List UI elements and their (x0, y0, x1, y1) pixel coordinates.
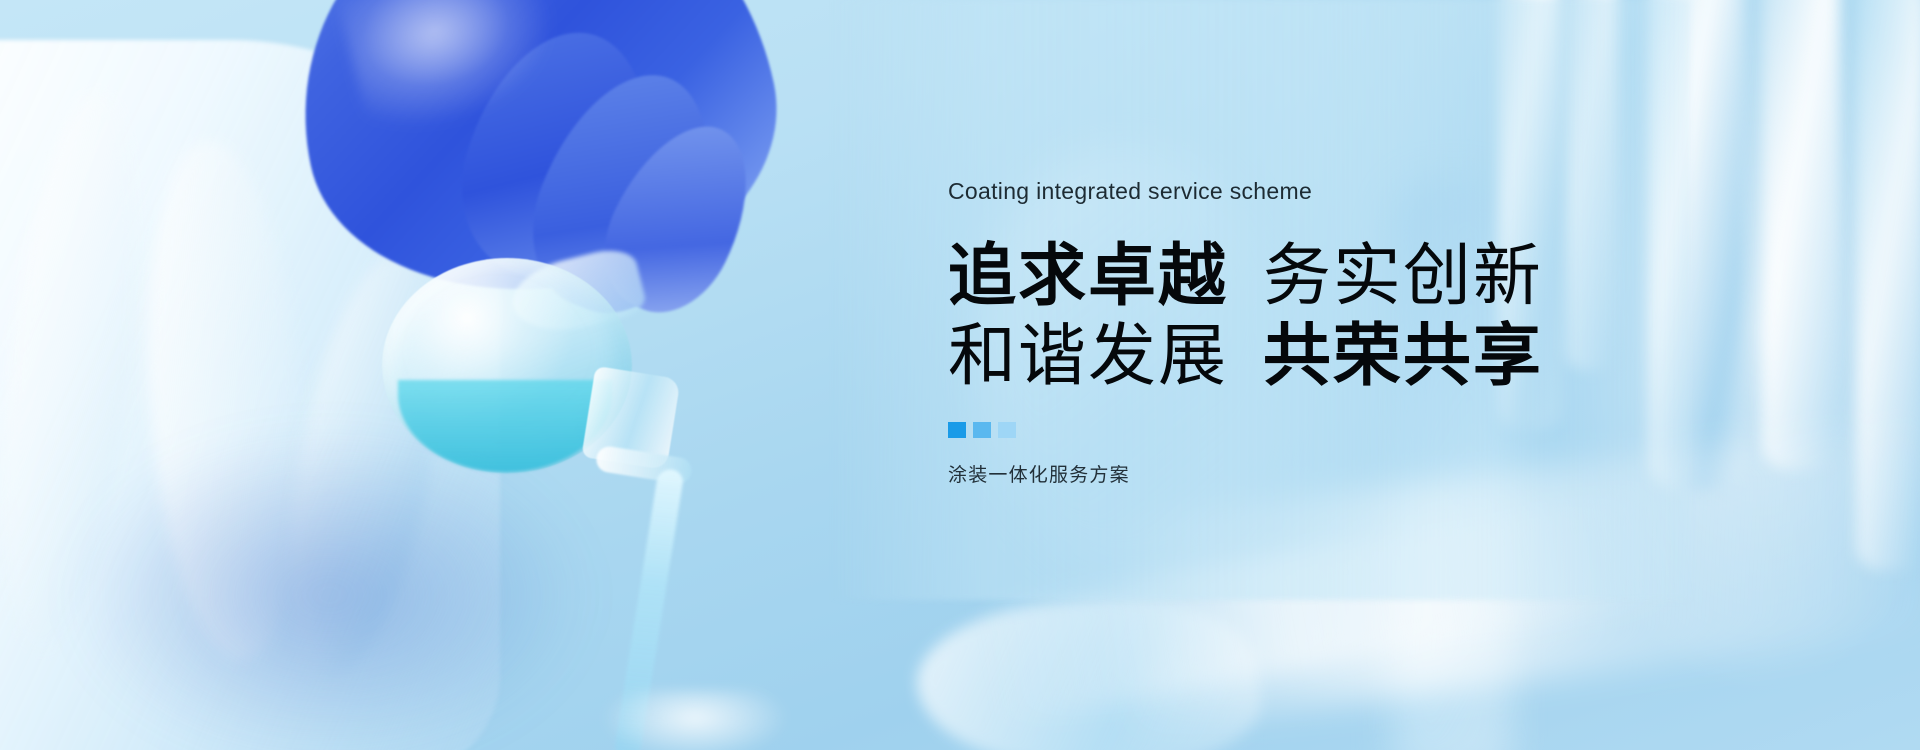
banner-copy: Coating integrated service scheme 追求卓越 务… (948, 178, 1668, 487)
headline-line-1-bold: 追求卓越 (948, 238, 1228, 314)
headline-line-2-bold: 共荣共享 (1263, 318, 1543, 394)
hero-banner: Coating integrated service scheme 追求卓越 务… (0, 0, 1920, 750)
banner-caption: 涂装一体化服务方案 (948, 460, 1668, 487)
banner-headline: 追求卓越 务实创新 和谐发展 共荣共享 (948, 236, 1668, 396)
indicator-dots[interactable] (948, 422, 1668, 438)
liquid-splash (600, 690, 790, 750)
indicator-dot-3[interactable] (998, 422, 1016, 438)
indicator-dot-1[interactable] (948, 422, 966, 438)
test-tube-icon (1762, 0, 1840, 470)
indicator-dot-2[interactable] (973, 422, 991, 438)
headline-line-2: 和谐发展 共荣共享 (948, 316, 1668, 396)
headline-line-1-thin: 务实创新 (1263, 238, 1543, 314)
headline-line-1: 追求卓越 务实创新 (948, 236, 1668, 316)
lab-coat-shadow (70, 430, 590, 750)
banner-eyebrow: Coating integrated service scheme (948, 178, 1668, 206)
headline-line-2-thin: 和谐发展 (948, 318, 1228, 394)
